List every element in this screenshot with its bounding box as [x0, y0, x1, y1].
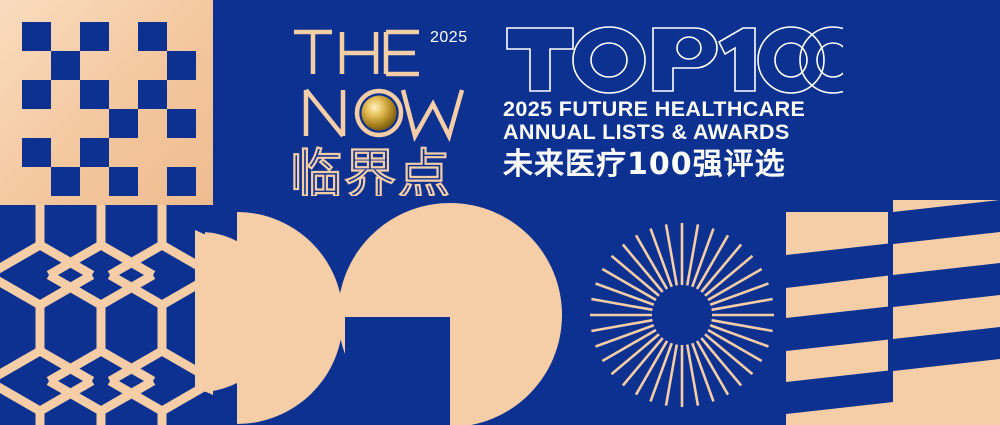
logo-lockup: 2025	[288, 16, 488, 196]
full-circle-middle	[237, 212, 343, 424]
headline-english-line-2: ANNUAL LISTS & AWARDS	[503, 121, 843, 144]
notched-circle-right	[338, 203, 562, 425]
checkerboard-pattern	[0, 0, 213, 205]
stripes-left-half	[786, 212, 893, 425]
logo-svg: 2025	[288, 16, 488, 196]
banner-root: 2025	[0, 0, 1000, 425]
logo-word-the	[294, 32, 419, 74]
stripes-right-half	[888, 200, 1000, 425]
diagonal-stripes-pattern	[780, 200, 1000, 425]
headline-group: 2025 FUTURE HEALTHCARE ANNUAL LISTS & AW…	[503, 22, 843, 187]
hexagon-lattice-pattern	[0, 205, 213, 425]
hexagon-lattice-svg	[0, 205, 213, 425]
sunburst-pattern	[585, 205, 780, 425]
top100-wordmark	[503, 22, 843, 95]
diagonal-stripes-svg	[780, 200, 1000, 425]
headline-chinese-line: 未来医疗100强评选	[503, 147, 843, 183]
logo-year-superscript: 2025	[430, 29, 468, 46]
checkerboard-svg	[0, 0, 213, 205]
logo-gold-orb-icon	[357, 91, 401, 135]
headline-english-line-1: 2025 FUTURE HEALTHCARE	[503, 98, 843, 121]
circle-cluster-svg	[205, 200, 580, 425]
top100-outline-letters	[507, 27, 843, 93]
logo-chinese-name: 临界点	[290, 145, 452, 196]
sunburst-svg	[585, 205, 780, 425]
checkerboard-cells	[22, 22, 196, 196]
sunburst-rays	[590, 223, 774, 407]
hexagon-lattice-strokes	[0, 205, 213, 425]
circle-cluster	[205, 200, 580, 425]
